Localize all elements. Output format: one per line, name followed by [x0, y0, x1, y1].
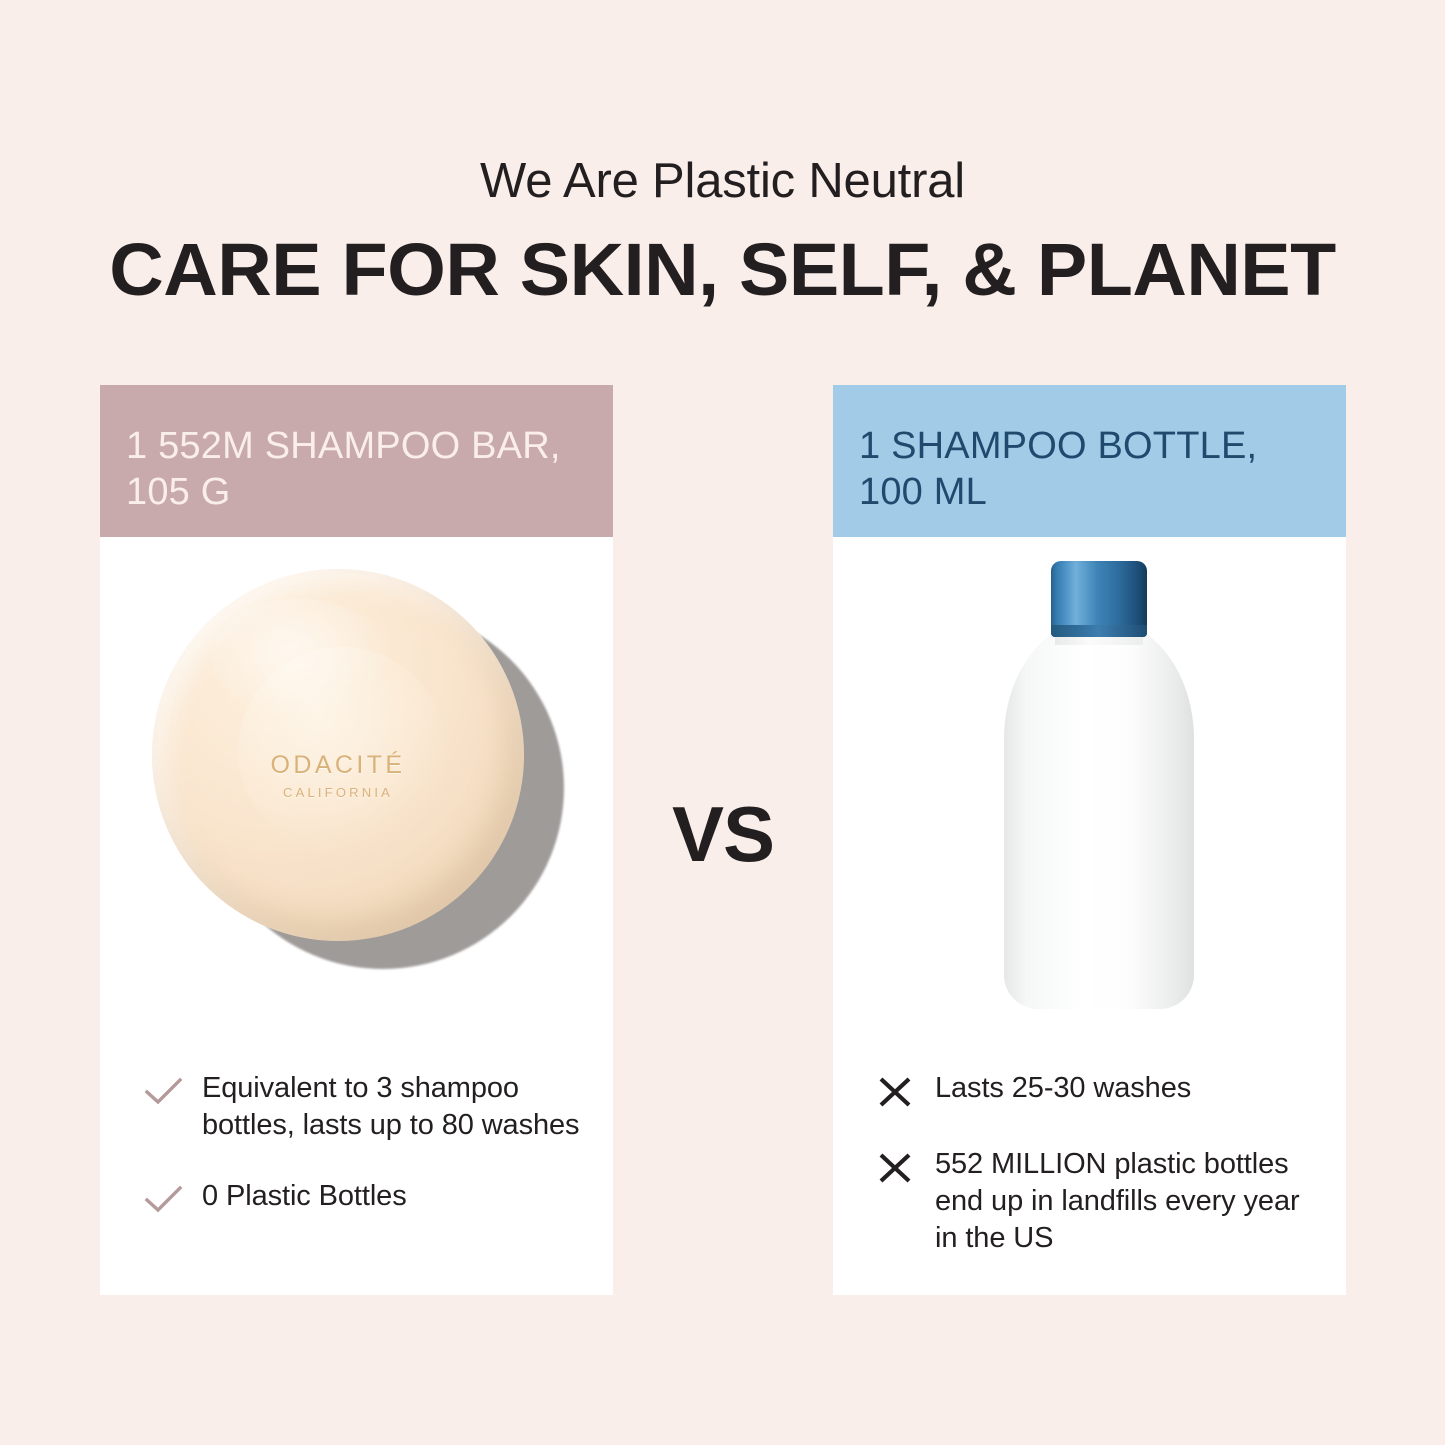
- check-icon: [144, 1070, 202, 1112]
- list-item-label: Equivalent to 3 shampoo bottles, lasts u…: [202, 1070, 581, 1144]
- list-item: Lasts 25-30 washes: [877, 1070, 1314, 1112]
- shampoo-bottle-image: [833, 537, 1346, 1042]
- brand-locale: CALIFORNIA: [152, 785, 524, 800]
- shampoo-bar-highlight: [212, 599, 391, 718]
- list-item-label: 552 MILLION plastic bottles end up in la…: [935, 1146, 1314, 1257]
- page-title: CARE FOR SKIN, SELF, & PLANET: [0, 228, 1445, 312]
- shampoo-bar-shape: ODACITÉ CALIFORNIA: [152, 569, 524, 941]
- left-card-header: 1 552M SHAMPOO BAR, 105 G: [100, 385, 613, 537]
- versus-label: VS: [613, 795, 833, 873]
- comparison-card-shampoo-bar: 1 552M SHAMPOO BAR, 105 G ODACITÉ CALIFO…: [100, 385, 613, 1295]
- comparison-card-shampoo-bottle: 1 SHAMPOO BOTTLE, 100 ML Lasts 25-30 was…: [833, 385, 1346, 1295]
- list-item: Equivalent to 3 shampoo bottles, lasts u…: [144, 1070, 581, 1144]
- list-item: 552 MILLION plastic bottles end up in la…: [877, 1146, 1314, 1257]
- eyebrow-text: We Are Plastic Neutral: [0, 152, 1445, 210]
- list-item-label: Lasts 25-30 washes: [935, 1070, 1191, 1107]
- bottle-body: [1004, 619, 1194, 1009]
- list-item: 0 Plastic Bottles: [144, 1178, 581, 1220]
- shampoo-bar-embossed-brand: ODACITÉ CALIFORNIA: [152, 751, 524, 800]
- check-icon: [144, 1178, 202, 1220]
- x-icon: [877, 1146, 935, 1188]
- bottle-cap: [1051, 561, 1147, 637]
- shampoo-bottle-shape: [833, 537, 1346, 1042]
- left-card-bullet-list: Equivalent to 3 shampoo bottles, lasts u…: [100, 1042, 613, 1295]
- list-item-label: 0 Plastic Bottles: [202, 1178, 407, 1215]
- x-icon: [877, 1070, 935, 1112]
- brand-name: ODACITÉ: [152, 751, 524, 780]
- right-card-bullet-list: Lasts 25-30 washes 552 MILLION plastic b…: [833, 1042, 1346, 1295]
- right-card-header: 1 SHAMPOO BOTTLE, 100 ML: [833, 385, 1346, 537]
- shampoo-bar-image: ODACITÉ CALIFORNIA: [100, 537, 613, 1042]
